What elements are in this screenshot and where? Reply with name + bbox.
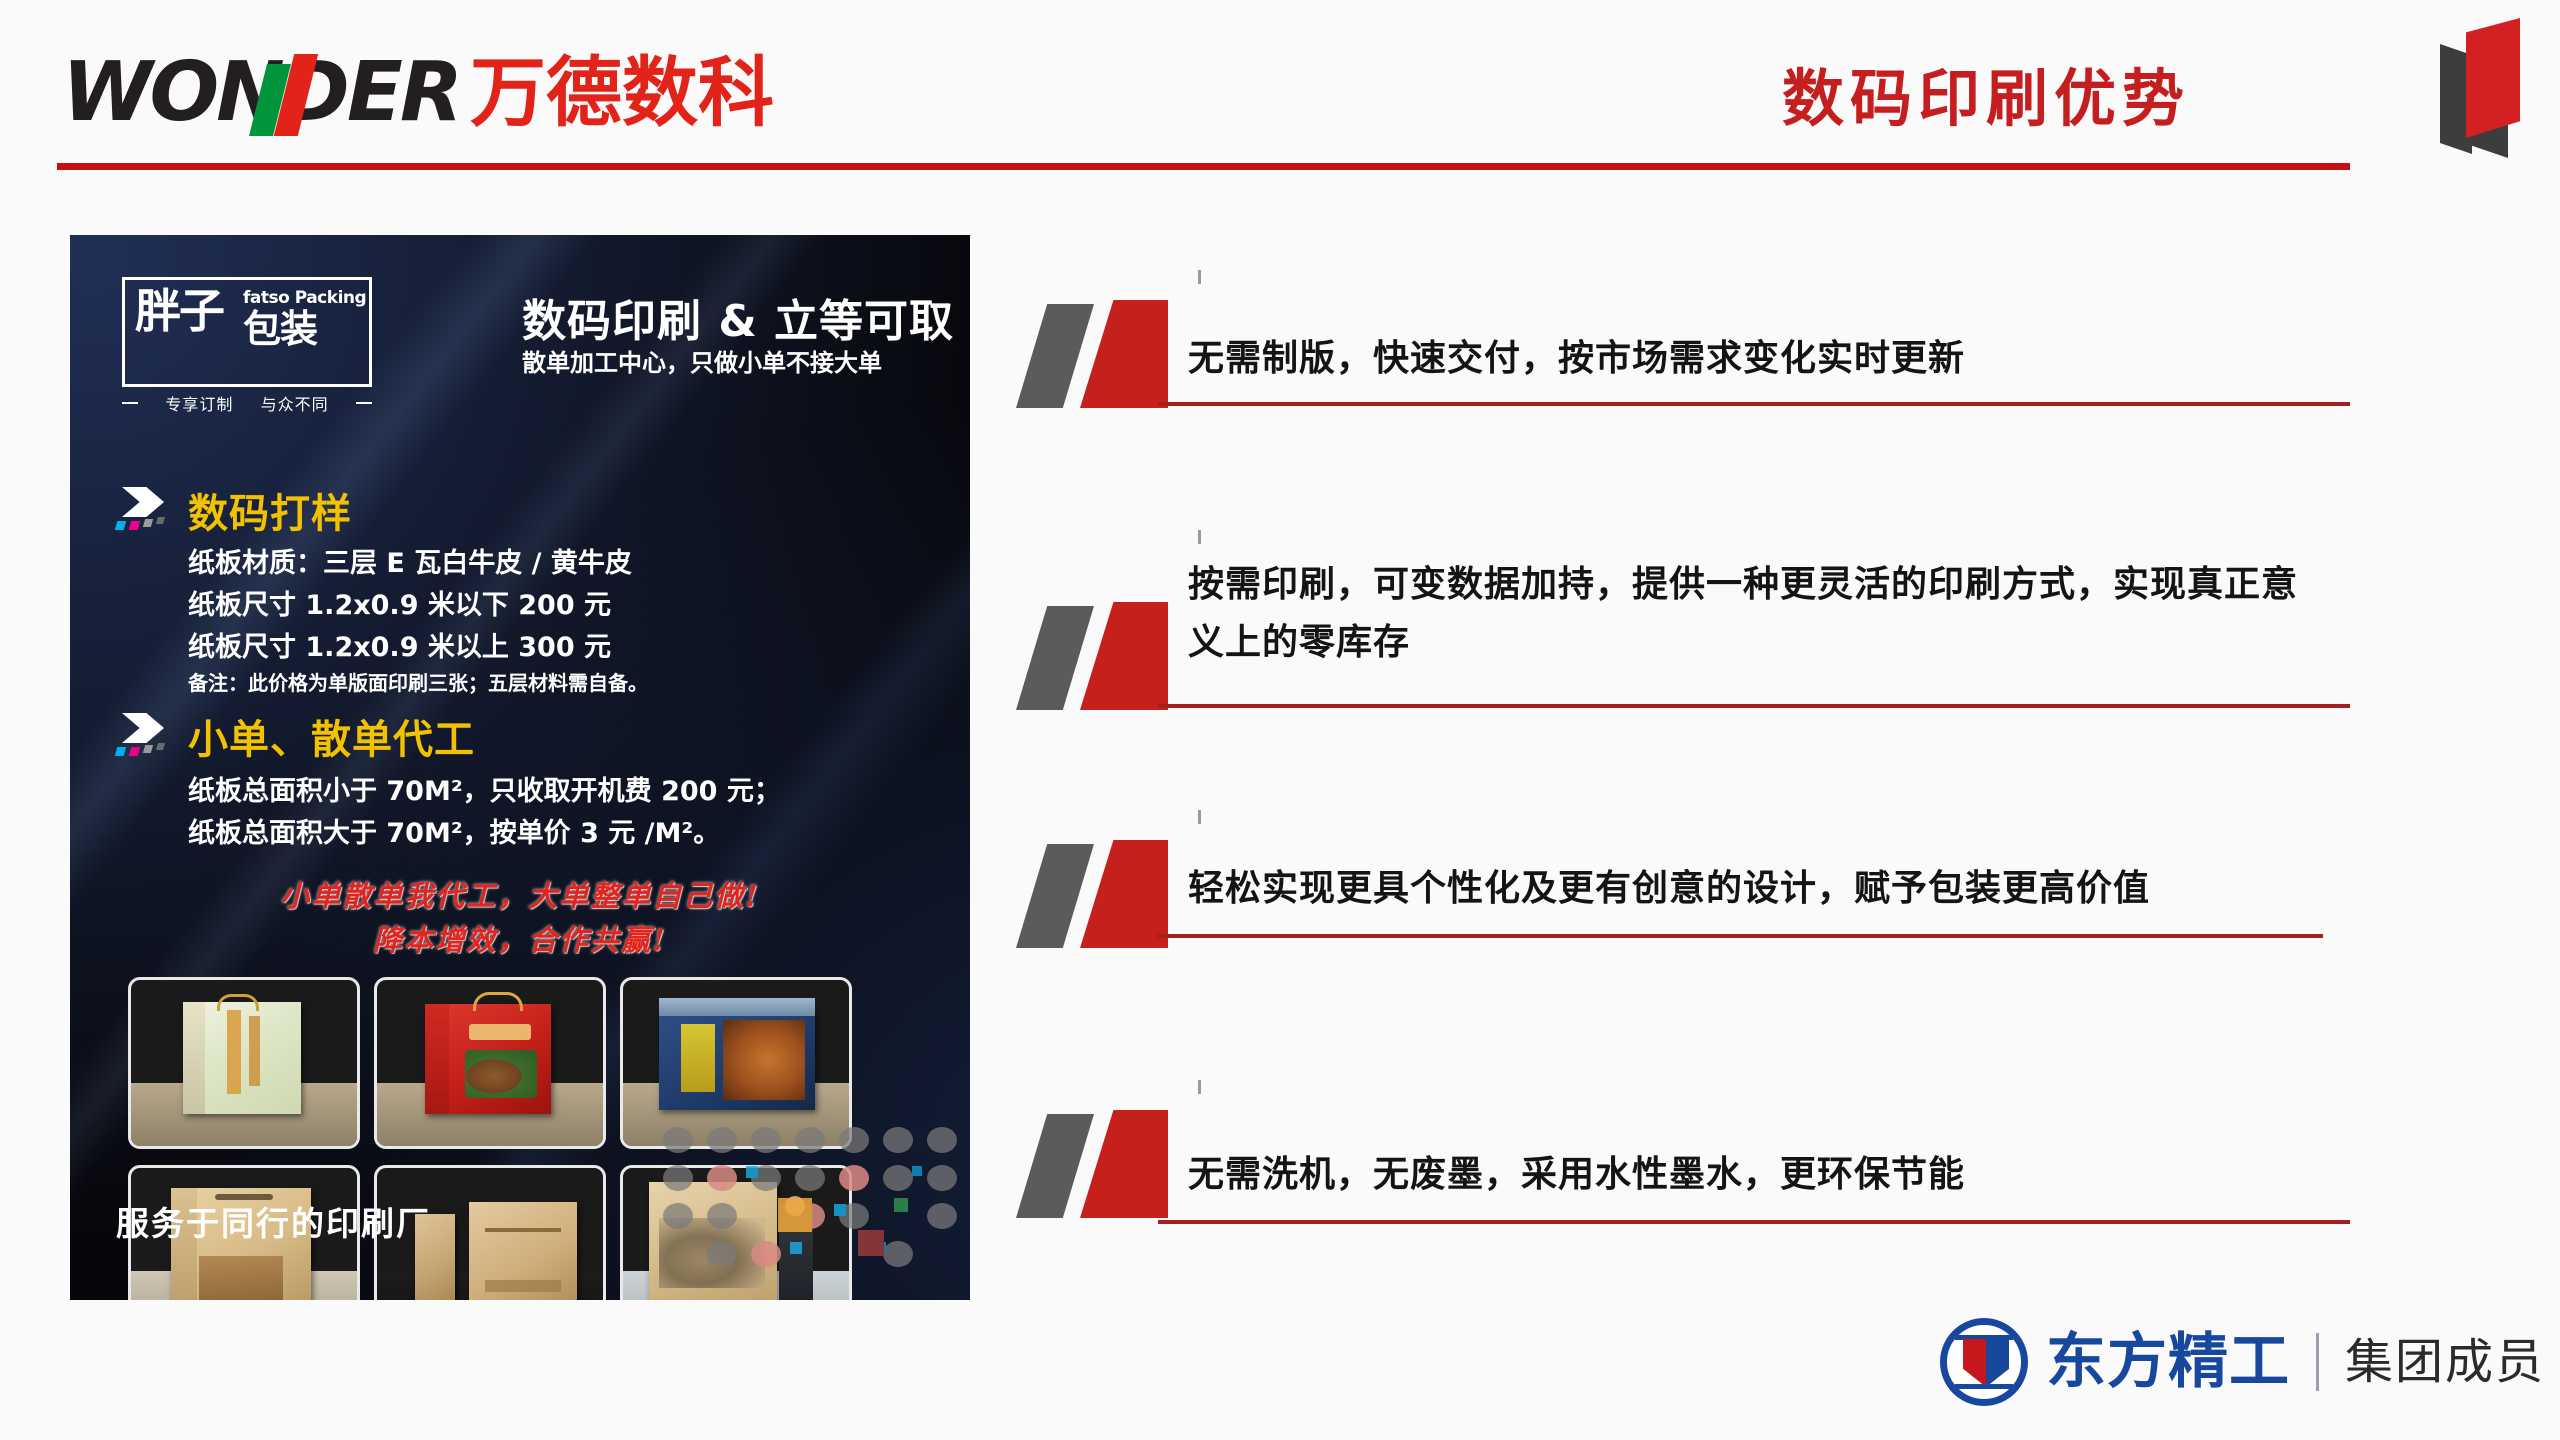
- dongfang-emblem-icon: [1940, 1318, 2028, 1406]
- fatso-tag-right: 与众不同: [261, 391, 329, 415]
- section1-line-2: 纸板尺寸 1.2x0.9 米以下 200 元: [188, 583, 611, 622]
- advantage-text-4: 无需洗机，无废墨，采用水性墨水，更环保节能: [1188, 1146, 1965, 1204]
- page-title: 数码印刷优势: [1782, 48, 2190, 138]
- chevron-marker-icon-4: [1010, 1108, 1170, 1218]
- section-title-1: 数码打样: [188, 481, 352, 539]
- footer-divider: [2316, 1333, 2319, 1391]
- section1-line-3: 纸板尺寸 1.2x0.9 米以上 300 元: [188, 625, 611, 664]
- advantage-underline-1: [1158, 402, 2350, 406]
- tick-mark-3: [1198, 810, 1201, 824]
- arrow-marker-icon-1: [114, 487, 176, 539]
- advantage-underline-3: [1158, 934, 2323, 938]
- product-photo-1: [128, 977, 360, 1149]
- company-name: 东方精工: [2046, 1332, 2290, 1392]
- arrow-marker-icon-2: [114, 713, 176, 765]
- group-member-logo: 东方精工 集团成员: [1940, 1318, 2545, 1406]
- chevron-marker-icon-3: [1010, 838, 1170, 948]
- advantage-text-2: 按需印刷，可变数据加持，提供一种更灵活的印刷方式，实现真正意义上的零库存: [1188, 556, 2303, 673]
- brand-logo: WONDER 万德数科: [62, 52, 774, 134]
- poster-slogan-line-1: 小单散单我代工，大单整单自己做!: [70, 873, 970, 915]
- promo-poster-image: 胖子 fatso Packing 包装 专享订制 与众不同 数码印刷 & 立等可…: [70, 235, 970, 1300]
- section2-line-2: 纸板总面积大于 70M²，按单价 3 元 /M²。: [188, 811, 720, 850]
- poster-subheadline: 散单加工中心，只做小单不接大单: [522, 343, 882, 378]
- advantage-text-1: 无需制版，快速交付，按市场需求变化实时更新: [1188, 330, 1965, 388]
- poster-footer-text: 服务于同行的印刷厂: [116, 1197, 431, 1245]
- tick-mark-2: [1198, 530, 1201, 544]
- corner-bookmark-icon: [2440, 8, 2530, 158]
- section-title-2: 小单、散单代工: [188, 707, 475, 765]
- poster-slogan-line-2: 降本增效，合作共赢!: [70, 917, 970, 959]
- poster-headline: 数码印刷 & 立等可取: [522, 285, 954, 349]
- fatso-taglines: 专享订制 与众不同: [122, 391, 372, 415]
- chevron-marker-icon-2: [1010, 600, 1170, 710]
- header-divider: [57, 163, 2350, 170]
- brand-logo-cn: 万德数科: [470, 55, 774, 131]
- tick-mark-1: [1198, 270, 1201, 284]
- fatso-en-small: fatso Packing: [243, 288, 366, 308]
- fatso-cn-big2: 包装: [243, 310, 317, 348]
- product-photo-2: [374, 977, 606, 1149]
- fatso-tag-left: 专享订制: [165, 391, 233, 415]
- page-header: WONDER 万德数科 数码印刷优势: [0, 0, 2560, 200]
- chevron-marker-icon-1: [1010, 298, 1170, 408]
- tick-mark-4: [1198, 1080, 1201, 1094]
- decorative-dots: [650, 1120, 970, 1300]
- section1-line-1: 纸板材质：三层 E 瓦白牛皮 / 黄牛皮: [188, 541, 632, 580]
- advantage-underline-2: [1158, 704, 2350, 708]
- fatso-brand-logo: 胖子 fatso Packing 包装: [122, 277, 372, 387]
- advantage-underline-4: [1158, 1220, 2350, 1224]
- fatso-cn-big: 胖子: [135, 288, 223, 334]
- advantage-text-3: 轻松实现更具个性化及更有创意的设计，赋予包装更高价值: [1188, 860, 2150, 918]
- section1-note: 备注：此价格为单版面印刷三张；五层材料需自备。: [188, 667, 648, 696]
- section2-line-1: 纸板总面积小于 70M²，只收取开机费 200 元；: [188, 769, 781, 808]
- member-label: 集团成员: [2345, 1338, 2545, 1386]
